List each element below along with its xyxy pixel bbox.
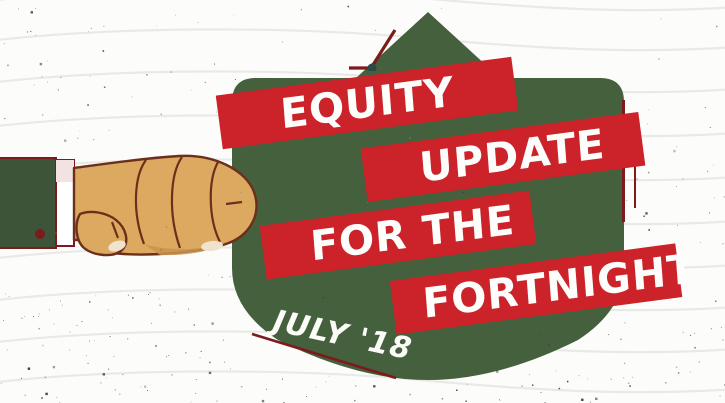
sleeve-button	[35, 229, 45, 239]
shirt-cuff	[56, 160, 74, 246]
fist-illustration	[0, 140, 284, 290]
fist-hand	[74, 156, 256, 255]
check-accent-icon	[345, 26, 405, 71]
poster-canvas: EQUITY UPDATE FOR THE FORTNIGHT JULY '18	[0, 0, 725, 403]
suit-sleeve	[0, 158, 56, 248]
